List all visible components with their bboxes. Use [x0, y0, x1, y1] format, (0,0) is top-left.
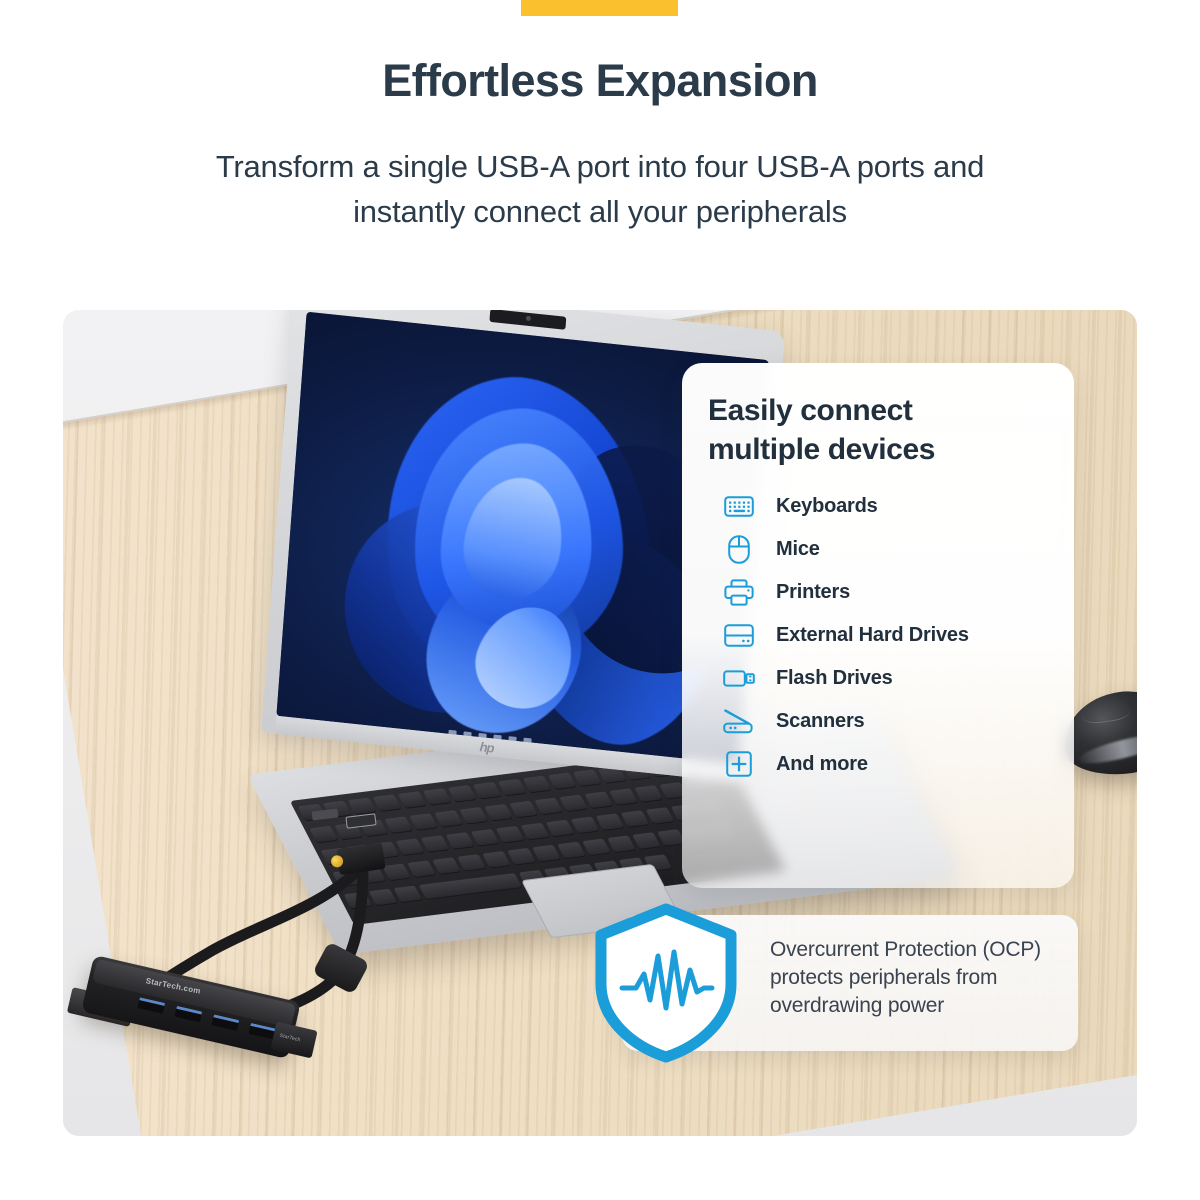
- accent-bar: [521, 0, 678, 16]
- list-item-label: Printers: [776, 581, 850, 604]
- hub-usb-port-1: [137, 997, 165, 1014]
- hard-drive-icon: [722, 620, 756, 650]
- list-item: External Hard Drives: [708, 620, 1048, 650]
- ocp-line-3: overdrawing power: [770, 994, 944, 1017]
- hub-usb-port-2: [174, 1006, 202, 1023]
- subtitle-line-2: instantly connect all your peripherals: [140, 189, 1060, 234]
- list-item-label: Flash Drives: [776, 667, 893, 690]
- page-title: Effortless Expansion: [0, 56, 1200, 106]
- hub-usb-port-3: [211, 1014, 239, 1031]
- ocp-line-1: Overcurrent Protection (OCP): [770, 938, 1041, 961]
- list-item: Mice: [708, 534, 1048, 564]
- plug-gold-ring: [330, 855, 344, 869]
- mouse-icon: [722, 534, 756, 564]
- ocp-line-2: protects peripherals from: [770, 966, 997, 989]
- page-subtitle: Transform a single USB-A port into four …: [140, 144, 1060, 235]
- product-photo: hp StarTech.com StarTech Easily: [63, 310, 1137, 1136]
- list-item-label: External Hard Drives: [776, 624, 969, 647]
- mouse-button-seam: [1081, 699, 1131, 725]
- devices-title-line-2: multiple devices: [708, 433, 935, 466]
- dongle-brand-label: StarTech: [279, 1033, 301, 1044]
- list-item: Printers: [708, 577, 1048, 607]
- list-item-label: And more: [776, 753, 868, 776]
- devices-card-title: Easily connect multiple devices: [708, 391, 1048, 469]
- printer-icon: [722, 577, 756, 607]
- shield-waveform-icon: [588, 900, 744, 1066]
- marketing-page: Effortless Expansion Transform a single …: [0, 0, 1200, 1200]
- list-item-label: Keyboards: [776, 495, 878, 518]
- subtitle-line-1: Transform a single USB-A port into four …: [140, 144, 1060, 189]
- mouse-highlight: [1076, 729, 1137, 769]
- keyboard-icon: [722, 491, 756, 521]
- list-item-label: Scanners: [776, 710, 864, 733]
- list-item: Scanners: [708, 706, 1048, 736]
- ocp-card: Overcurrent Protection (OCP) protects pe…: [622, 915, 1078, 1051]
- list-item: And more: [708, 749, 1048, 779]
- plus-square-icon: [722, 749, 756, 779]
- list-item-label: Mice: [776, 538, 820, 561]
- devices-title-line-1: Easily connect: [708, 394, 913, 427]
- list-item: Keyboards: [708, 491, 1048, 521]
- list-item: Flash Drives: [708, 663, 1048, 693]
- flash-drive-icon: [722, 663, 756, 693]
- devices-card: Easily connect multiple devices: [682, 363, 1074, 888]
- devices-list: Keyboards Mice: [708, 491, 1048, 779]
- ocp-description: Overcurrent Protection (OCP) protects pe…: [770, 936, 1070, 1020]
- hp-logo: hp: [479, 739, 506, 757]
- scanner-icon: [722, 706, 756, 736]
